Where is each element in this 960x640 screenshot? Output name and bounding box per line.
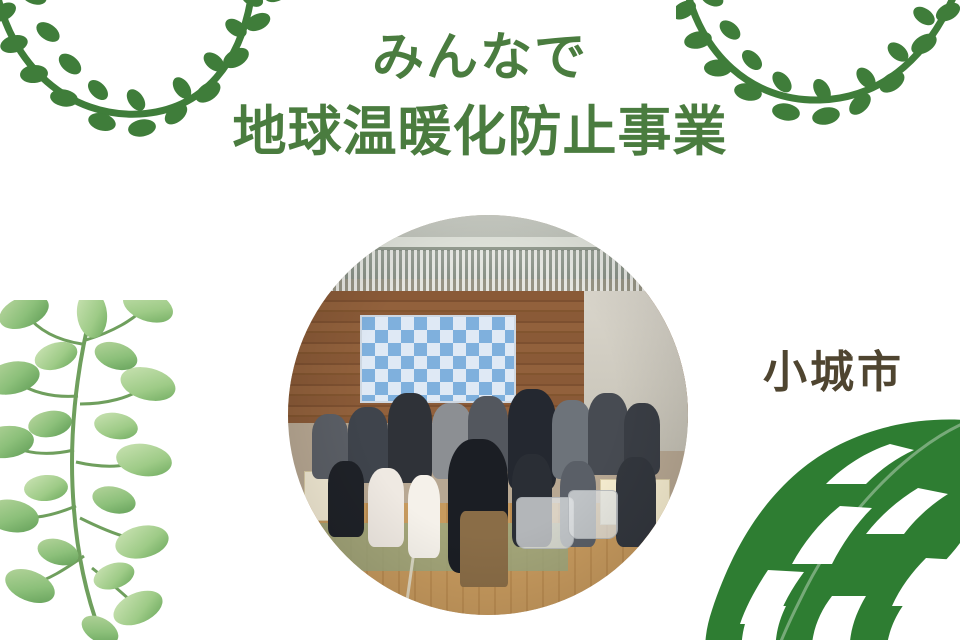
- event-photo: [288, 215, 688, 615]
- title-line-2: 地球温暖化防止事業: [0, 97, 960, 167]
- title-line-1: みんなで: [0, 26, 960, 91]
- monstera-leaf-bottom-right-icon: [690, 410, 960, 640]
- poster-canvas: みんなで 地球温暖化防止事業 小城市: [0, 0, 960, 640]
- city-name-label: 小城市: [763, 336, 904, 400]
- event-photo-content: [288, 215, 688, 615]
- photo-vignette: [288, 215, 688, 615]
- eucalyptus-branch-bottom-left-icon: [0, 300, 246, 640]
- page-title: みんなで 地球温暖化防止事業: [0, 26, 960, 167]
